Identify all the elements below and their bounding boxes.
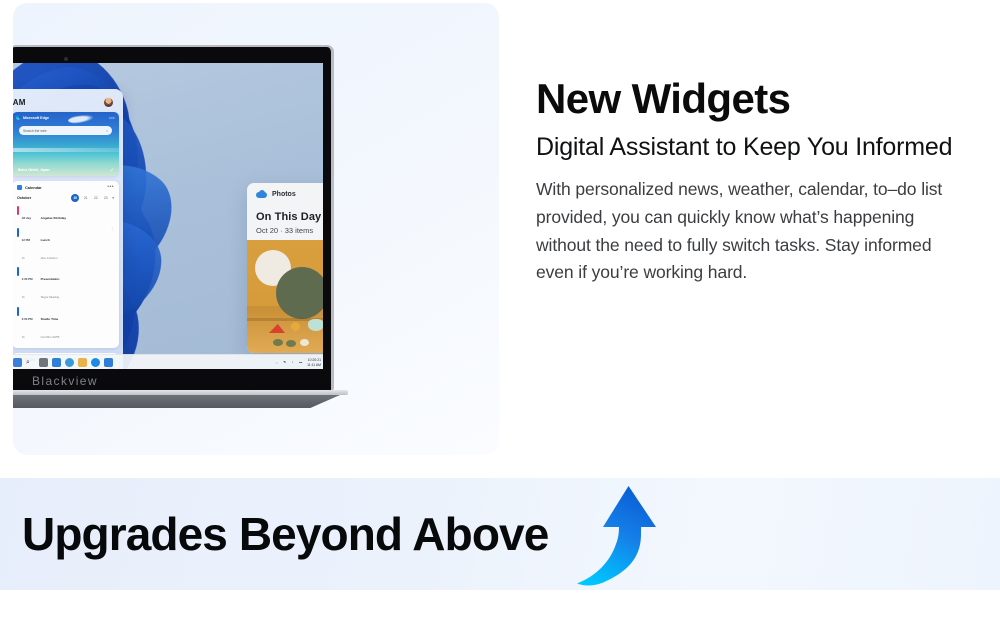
page-subtitle: Digital Assistant to Keep You Informed [536,132,966,162]
more-icon[interactable]: ⋮ [110,228,114,231]
photo-shape [286,340,296,347]
search-icon[interactable]: ⌕ [106,129,108,133]
hero-text-column: New Widgets Digital Assistant to Keep Yo… [536,76,966,287]
banner-title: Upgrades Beyond Above [22,507,548,561]
edge-location-row: Boina Okishi, Japan ⤢ [18,168,113,172]
photo-shape [273,339,283,346]
event-color-bar [17,228,19,237]
widgets-icon[interactable] [52,358,61,367]
taskbar-time: 11:11 AM [307,363,321,367]
laptop-base-body [13,395,340,408]
event-detail: Skype Meeting [41,295,60,299]
user-avatar[interactable] [103,97,114,108]
file-explorer-icon[interactable] [78,358,87,367]
calendar-month-row: October 20 21 22 23 ▾ [17,194,114,202]
edge-horizon-shape [13,148,119,152]
calendar-widget-title: Calendar [25,185,42,190]
photos-title: On This Day [256,211,321,223]
calendar-month-label: October [17,196,31,200]
event-time: 4:00 PM [22,317,33,321]
calendar-day[interactable]: 23 [102,196,109,200]
edge-search-input[interactable]: Search the web ⌕ [19,126,112,135]
laptop-device: 1 AM Microsoft Edge [13,45,340,405]
start-icon[interactable] [13,358,22,367]
event-time: 1:30 PM [22,277,33,281]
edge-widget-header: Microsoft Edge ••• [13,112,119,123]
taskbar-icons[interactable]: ⌕ [13,358,113,367]
calendar-widget-header: Calendar ••• [17,185,114,190]
page-title: New Widgets [536,76,966,121]
photos-app-name: Photos [272,191,296,198]
edge-icon[interactable] [91,358,100,367]
calendar-day-strip[interactable]: 20 21 22 23 ▾ [71,194,114,202]
system-tray[interactable]: ︿ ◥ ◑ ▬ 10:20:21 11:11 AM [275,355,321,369]
laptop-base-top-edge [13,390,348,395]
chevron-down-icon[interactable]: ▾ [112,196,114,200]
network-icon[interactable]: ◥ [283,360,288,365]
event-detail: Conf Rm 32/55 [41,335,60,339]
hero-section: 1 AM Microsoft Edge [0,0,1000,462]
event-duration: 1h [22,336,25,339]
page-body-text: With personalized news, weather, calenda… [536,176,966,287]
event-color-bar [17,267,19,276]
calendar-day[interactable]: 22 [92,196,99,200]
photo-shape [300,339,309,346]
calendar-event-row[interactable]: 1:30 PM 1h Presentation Skype Meeting [17,267,114,303]
calendar-event-row[interactable]: All day Angelas Birthday [17,206,114,224]
photo-shape [276,267,323,319]
laptop-base [13,390,348,412]
event-name: Lunch [41,238,50,242]
calendar-day[interactable]: 21 [82,196,89,200]
widget-card-edge[interactable]: Microsoft Edge ••• Search the web ⌕ Boin… [13,112,119,176]
volume-icon[interactable]: ◑ [291,360,296,365]
chevron-up-icon[interactable]: ︿ [275,360,280,365]
event-detail: Alex Johnson [41,256,58,260]
calendar-event-row[interactable]: 12 PM 1h Lunch Alex Johnson ⋮ [17,228,114,264]
windows-taskbar[interactable]: ⌕ ︿ ◥ ◑ ▬ [13,354,323,369]
event-name: Studio Time [41,317,59,321]
laptop-brand-label: Blackview [13,369,323,392]
store-icon[interactable] [104,358,113,367]
edge-widget-title: Microsoft Edge [23,116,49,120]
event-duration: 1h [22,296,25,299]
widgets-clock: 1 AM [13,98,26,107]
photo-shape [291,322,300,331]
cloud-icon [256,190,267,198]
search-icon[interactable]: ⌕ [26,358,35,367]
more-icon[interactable]: ••• [107,186,114,189]
calendar-icon [17,185,22,190]
product-image-panel: 1 AM Microsoft Edge [13,3,499,455]
edge-location-label: Boina Okishi, Japan [18,168,50,172]
windows-widgets-panel[interactable]: 1 AM Microsoft Edge [13,89,123,369]
laptop-screen: 1 AM Microsoft Edge [13,63,323,369]
photos-widget-card[interactable]: Photos ••• On This Day Oct 20 · 33 items… [247,183,323,353]
taskbar-clock[interactable]: 10:20:21 11:11 AM [307,358,321,367]
event-name: Presentation [41,277,60,281]
edge-icon [16,115,21,120]
laptop-lid: 1 AM Microsoft Edge [13,45,334,390]
calendar-day-selected[interactable]: 20 [71,194,79,202]
widgets-header: 1 AM [13,93,119,112]
expand-icon[interactable]: ⤢ [110,168,113,172]
photos-thumbnail-grid [247,240,323,353]
event-duration: 1h [22,257,25,260]
photo-thumbnail[interactable] [247,240,323,353]
webcam-icon [64,57,68,61]
event-color-bar [17,206,19,215]
photo-shape [269,324,285,333]
up-arrow-icon [572,482,658,586]
more-icon[interactable]: ••• [109,117,115,119]
photos-card-header: Photos ••• [247,183,323,205]
chat-icon[interactable] [65,358,74,367]
calendar-event-row[interactable]: 4:00 PM 1h Studio Time Conf Rm 32/55 [17,307,114,343]
battery-icon[interactable]: ▬ [299,360,304,365]
photos-subtitle: Oct 20 · 33 items [256,226,321,235]
photos-title-row: On This Day Oct 20 · 33 items See all [247,205,323,235]
bottom-banner: Upgrades Beyond Above [0,478,1000,590]
photo-shape [308,319,323,331]
edge-search-placeholder: Search the web [23,129,47,133]
event-time: 12 PM [22,238,30,242]
event-name: Angelas Birthday [41,216,66,220]
widget-card-calendar[interactable]: Calendar ••• October 20 21 22 23 [13,181,119,348]
event-time: All day [22,216,31,220]
task-view-icon[interactable] [39,358,48,367]
event-color-bar [17,307,19,316]
